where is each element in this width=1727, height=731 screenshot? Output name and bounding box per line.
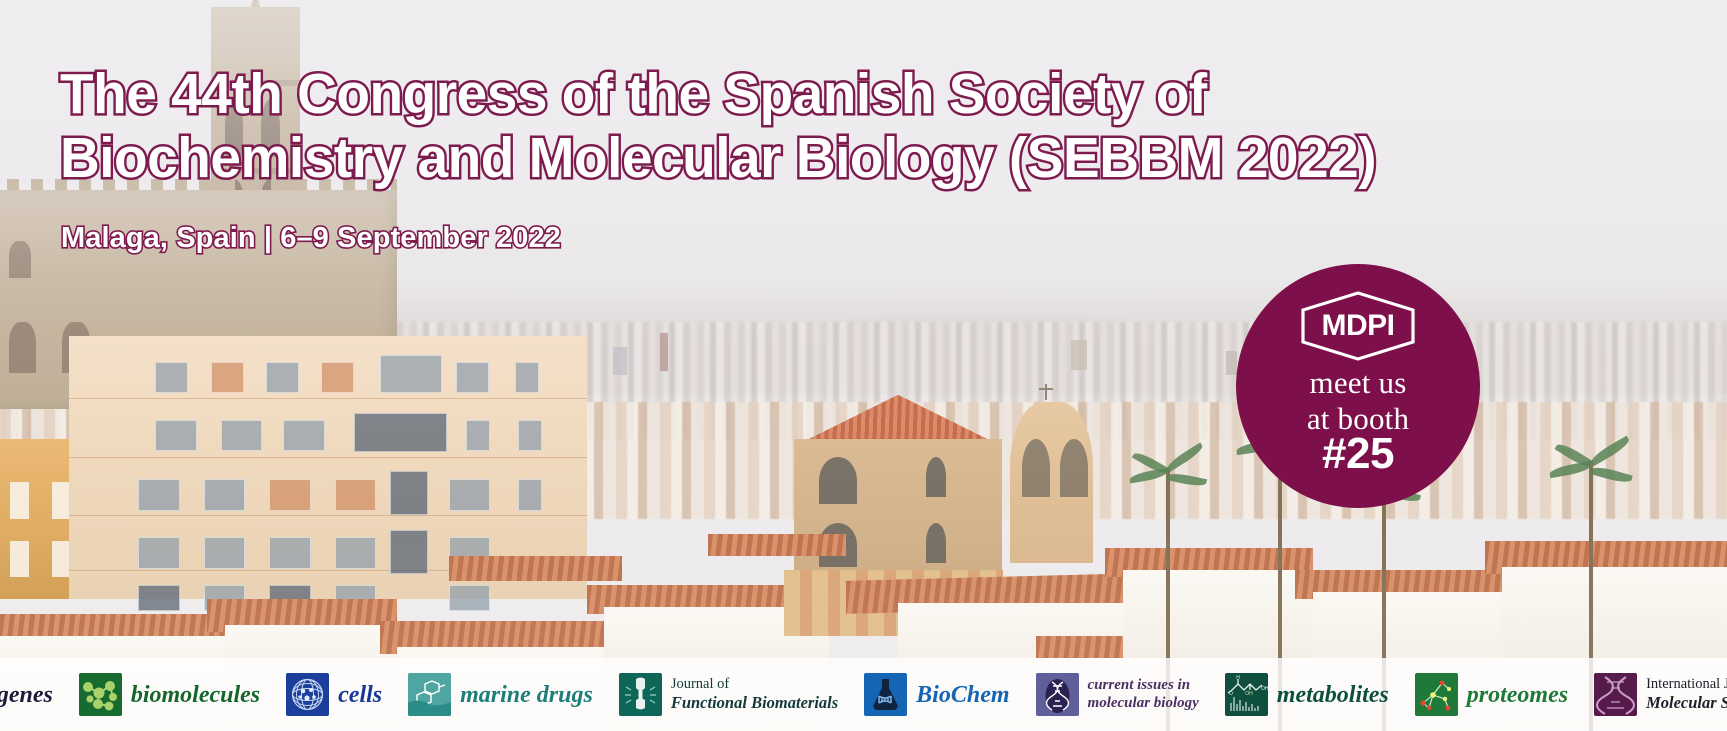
apartment-window [515,362,539,393]
ochre-window [10,541,29,578]
apartment-window [269,479,310,511]
apartment-balcony [354,413,447,452]
far-tower [660,333,668,371]
mdpi-booth-badge[interactable]: MDPI meet us at booth #25 [1236,264,1480,508]
journal-name: cells [338,683,382,707]
journal-logo-biochem[interactable]: BioChem [851,658,1022,731]
journal-name-main: Molecular Sciences [1646,693,1727,712]
protein-network-icon [1415,673,1458,716]
apartment-window [269,537,310,569]
ochre-window [10,482,29,519]
ochre-window [52,541,71,578]
cathedral-window [9,241,31,278]
ochre-window [52,482,71,519]
molecule-nodes-icon [79,673,122,716]
badge-line-1: meet us [1236,365,1480,401]
dna-strand-icon [1594,673,1637,716]
journal-name: International Journal of Molecular Scien… [1646,676,1727,713]
apartment-window [449,585,490,611]
journal-name: Journal of Functional Biomaterials [671,676,838,713]
journal-name-prefix: Journal of [671,676,729,692]
mdpi-logo-icon: MDPI [1294,290,1422,362]
apartment-balcony [390,530,428,574]
church-arch-window [926,457,947,497]
journal-name-main: Functional Biomaterials [671,693,838,712]
journal-name: metabolites [1277,683,1389,707]
svg-text:MDPI: MDPI [1322,309,1395,342]
bone-joint-icon [619,673,662,716]
journal-logo-ijms[interactable]: International Journal of Molecular Scien… [1581,658,1727,731]
journal-logo-current-issues-molecular-biology[interactable]: current issues in molecular biology [1023,658,1212,731]
apartment-window [138,537,179,569]
apartment-window [204,537,245,569]
journal-logo-genes[interactable]: GCATTACGGCAT genes [0,658,66,731]
dna-helix-icon [1036,673,1079,716]
journal-logo-strip: GCATTACGGCAT genes b [0,658,1727,731]
cathedral-window [9,322,37,373]
svg-text:H: H [1236,675,1240,681]
apartment-window [155,420,196,451]
svg-text:OH: OH [1261,686,1268,692]
chem-structure-icon: H O OH OH [1225,673,1268,716]
church-arch-window [926,523,947,563]
tiled-roof [449,556,622,582]
apartment-window [138,479,179,511]
apartment-floor-line [69,398,587,399]
journal-name: proteomes [1467,683,1568,707]
apartment-window [204,479,245,511]
apartment-floor-line [69,457,587,458]
cell-sphere-icon [286,673,329,716]
journal-logo-marine-drugs[interactable]: marine drugs [395,658,606,731]
belfry-arch [1060,439,1088,497]
journal-logo-biomolecules[interactable]: biomolecules [66,658,273,731]
event-location-date: Malaga, Spain | 6–9 September 2022 [61,222,561,255]
journal-name-prefix: International Journal of [1646,676,1727,692]
tiled-roof [708,534,846,556]
apartment-window [283,420,324,451]
apartment-window [518,420,542,451]
journal-name: genes [0,683,53,707]
apartment-window [449,479,490,511]
journal-name: BioChem [916,683,1009,707]
journal-name: marine drugs [460,683,593,707]
belfry-cross-icon [1045,384,1047,400]
flask-dna-icon [864,673,907,716]
svg-text:OH: OH [1245,691,1253,697]
belfry-arch [1022,439,1050,497]
far-tower [613,347,627,375]
molecule-wave-icon [408,673,451,716]
apartment-window [138,585,179,611]
apartment-window [380,355,442,393]
apartment-window [518,479,542,511]
apartment-floor-line [69,515,587,516]
apartment-window [335,537,376,569]
apartment-window [321,362,354,393]
church-arch-window [819,457,857,505]
apartment-window [466,420,490,451]
journal-logo-cells[interactable]: cells [273,658,395,731]
badge-meet-text: meet us at booth [1236,365,1480,438]
apartment-window [211,362,244,393]
apartment-balcony [390,471,428,515]
journal-logo-metabolites[interactable]: H O OH OH metabolites [1212,658,1402,731]
journal-name-main: molecular biology [1088,695,1199,713]
journal-name-prefix: current issues in [1088,677,1191,693]
journal-name: biomolecules [131,683,260,707]
apartment-window [266,362,299,393]
page-title: The 44th Congress of the Spanish Society… [60,62,1440,191]
far-tower [1071,340,1087,370]
journal-name: current issues in molecular biology [1088,677,1199,712]
svg-text:O: O [1229,691,1233,697]
badge-booth-number: #25 [1236,429,1480,479]
apartment-window [221,420,262,451]
journal-logo-functional-biomaterials[interactable]: Journal of Functional Biomaterials [606,658,851,731]
apartment-window [335,479,376,511]
journal-logo-proteomes[interactable]: proteomes [1402,658,1581,731]
apartment-window [155,362,188,393]
apartment-window [456,362,489,393]
conference-banner: The 44th Congress of the Spanish Society… [0,0,1727,731]
